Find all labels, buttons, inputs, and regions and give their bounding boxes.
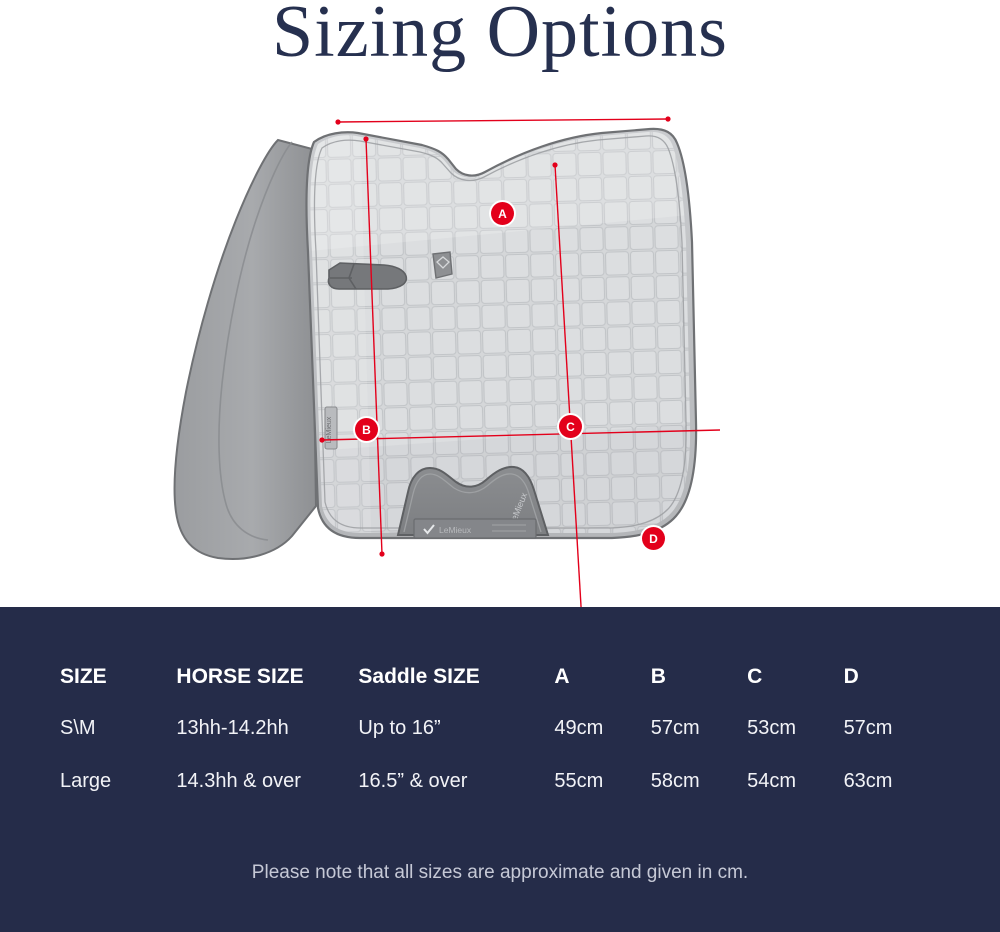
header-size: SIZE [60,665,176,717]
cell-saddle-size: 16.5” & over [358,770,554,823]
saddle-pad-illustration: LeMieux LeMieux LeMieux [0,92,1000,607]
sizing-options-page: Sizing Options [0,0,1000,932]
header-c: C [747,665,843,717]
table-row: S\M 13hh-14.2hh Up to 16” 49cm 57cm 53cm… [60,717,940,770]
cell-size: S\M [60,717,176,770]
cell-c: 53cm [747,717,843,770]
cell-b: 58cm [651,770,747,823]
pad-front-flap [174,140,316,559]
header-d: D [844,665,940,717]
table-row: Large 14.3hh & over 16.5” & over 55cm 58… [60,770,940,823]
cell-c: 54cm [747,770,843,823]
cell-saddle-size: Up to 16” [358,717,554,770]
sizing-table-panel: SIZE HORSE SIZE Saddle SIZE A B C D S\M … [0,607,1000,932]
cell-d: 57cm [844,717,940,770]
page-title: Sizing Options [0,0,1000,77]
cell-horse-size: 13hh-14.2hh [176,717,358,770]
saddle-pad-diagram: LeMieux LeMieux LeMieux [0,92,1000,607]
header-saddle-size: Saddle SIZE [358,665,554,717]
cell-a: 49cm [554,717,650,770]
cell-size: Large [60,770,176,823]
measure-badge-d: D [642,527,665,550]
header-a: A [554,665,650,717]
lemieux-logo-tab [433,252,452,278]
sizing-footnote: Please note that all sizes are approxima… [0,862,1000,884]
cell-d: 63cm [844,770,940,823]
header-b: B [651,665,747,717]
svg-text:LeMieux: LeMieux [439,525,472,535]
header-horse-size: HORSE SIZE [176,665,358,717]
wither-keeper-strap [328,263,406,289]
sizing-table: SIZE HORSE SIZE Saddle SIZE A B C D S\M … [60,665,940,823]
cell-b: 57cm [651,717,747,770]
measure-line-a [338,119,668,122]
side-label-tag: LeMieux [325,407,337,449]
cell-a: 55cm [554,770,650,823]
title-area: Sizing Options [0,0,1000,92]
table-header-row: SIZE HORSE SIZE Saddle SIZE A B C D [60,665,940,717]
measure-badge-a: A [491,202,514,225]
measure-badge-c: C [559,415,582,438]
measure-badge-b: B [355,418,378,441]
cell-horse-size: 14.3hh & over [176,770,358,823]
